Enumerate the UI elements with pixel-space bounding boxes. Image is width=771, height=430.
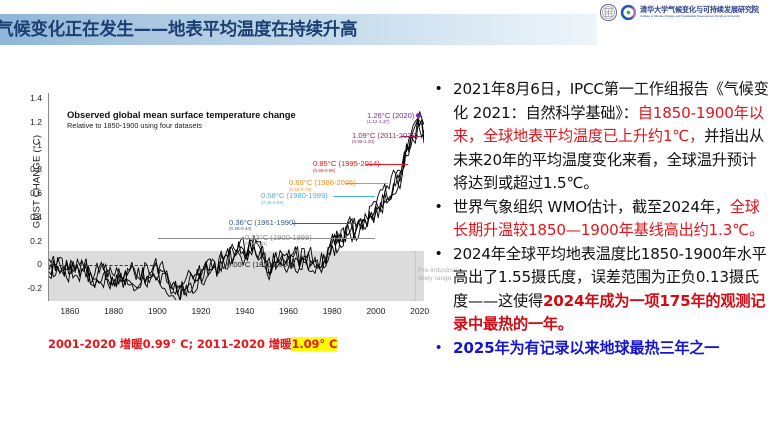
annotation-line-0.36 [292, 223, 355, 224]
bullet-2025-text: 2025年为有记录以来地球最热三年之一 [453, 337, 771, 361]
logo-english-name: Institute of Climate Change and Sustaina… [640, 15, 759, 18]
bullet-2025-segment-0: 2025年为有记录以来地球最热三年之一 [453, 339, 719, 357]
annotation-label-0.58: 0.58°C (1980-1999)(0.45-0.69) [261, 192, 328, 205]
bullet-ipcc: 2021年8月6日，IPCC第一工作组报告《气候变化 2021：自然科学基础》：… [431, 78, 771, 196]
annotation-label-0.00: 0.00°C (1850-1900) [227, 261, 294, 269]
annotation-line-0.00 [49, 265, 158, 266]
chart-y-tick: 0 [16, 260, 42, 269]
annotation-marker-1.26 [416, 113, 421, 118]
chart-y-tick: -0.2 [16, 284, 42, 293]
page-title: 气候变化正在发生——地表平均温度在持续升高 [0, 17, 596, 43]
chart-y-tick: 0.6 [16, 189, 42, 198]
chart-y-tick: 1.2 [16, 118, 42, 127]
warming-note-part1: 2001-2020 增暖0.99° C; 2011-2020 增暖 [48, 337, 291, 351]
annotation-label-1.09: 1.09°C (2011-2020)(0.95-1.20) [352, 132, 418, 145]
pre-industrial-brace [411, 251, 416, 301]
chart-title: Observed global mean surface temperature… [67, 109, 296, 120]
chart-x-tick: 1860 [53, 306, 87, 316]
chart-y-tick: 0.4 [16, 213, 42, 222]
bullet-2024: 2024年全球平均地表温度比1850-1900年水平高出了1.55摄氏度，误差范… [431, 243, 771, 337]
chart-x-tick: 1880 [97, 306, 131, 316]
chart-y-ticks: 1.41.210.80.60.40.20-0.2 [16, 84, 42, 329]
bullet-2024-text: 2024年全球平均地表温度比1850-1900年水平高出了1.55摄氏度，误差范… [453, 243, 771, 337]
chart-x-tick: 1940 [228, 306, 262, 316]
chart-y-tick: 1.4 [16, 94, 42, 103]
bullet-wmo-text: 世界气象组织 WMO估计，截至2024年，全球长期升温较1850—1900年基线… [453, 196, 771, 243]
chart-series-dataset-3 [49, 120, 424, 300]
slide-root: 清华大学气候变化与可持续发展研究院 Institute of Climate C… [0, 0, 771, 430]
warming-note-highlight: 1.09° C [291, 337, 337, 351]
climate-c-icon [620, 4, 637, 21]
annotation-label-0.85: 0.85°C (1995-2014)(0.69-0.95) [313, 160, 380, 173]
chart-x-tick: 2000 [359, 306, 393, 316]
bullet-wmo-segment-0: 世界气象组织 WMO估计，截至2024年， [453, 198, 730, 216]
annotation-label-0.36: 0.36°C (1961-1990)(0.28-0.44) [229, 219, 296, 232]
bullet-2025: 2025年为有记录以来地球最热三年之一 [431, 337, 771, 361]
annotation-label-1.26: 1.26°C (2020)(1.12-1.37) [367, 112, 414, 125]
institute-logo: 清华大学气候变化与可持续发展研究院 Institute of Climate C… [600, 1, 771, 23]
chart-x-tick: 1960 [271, 306, 305, 316]
chart-x-tick: 1980 [315, 306, 349, 316]
chart-x-tick: 1900 [140, 306, 174, 316]
annotation-label-0.23: 0.23°C (1900-1999)(0.10-0.31) [245, 234, 312, 247]
tsinghua-seal-icon [600, 4, 617, 21]
chart-subtitle: Relative to 1850-1900 using four dataset… [67, 121, 202, 130]
annotation-line-0.58 [333, 196, 375, 197]
chart-y-tick: 0.8 [16, 165, 42, 174]
logo-chinese-name: 清华大学气候变化与可持续发展研究院 [640, 6, 759, 13]
bullet-ipcc-text: 2021年8月6日，IPCC第一工作组报告《气候变化 2021：自然科学基础》：… [453, 78, 771, 196]
chart-x-tick: 1920 [184, 306, 218, 316]
chart-plot-area: Observed global mean surface temperature… [48, 93, 424, 301]
chart-y-tick: 1 [16, 141, 42, 150]
chart-y-tick: 0.2 [16, 237, 42, 246]
temperature-chart: GMST CHANGE (°C) 1.41.210.80.60.40.20-0.… [8, 84, 428, 329]
bullet-list: 2021年8月6日，IPCC第一工作组报告《气候变化 2021：自然科学基础》：… [431, 78, 771, 428]
chart-warming-note: 2001-2020 增暖0.99° C; 2011-2020 增暖1.09° C [48, 336, 428, 352]
bullet-wmo: 世界气象组织 WMO估计，截至2024年，全球长期升温较1850—1900年基线… [431, 196, 771, 243]
